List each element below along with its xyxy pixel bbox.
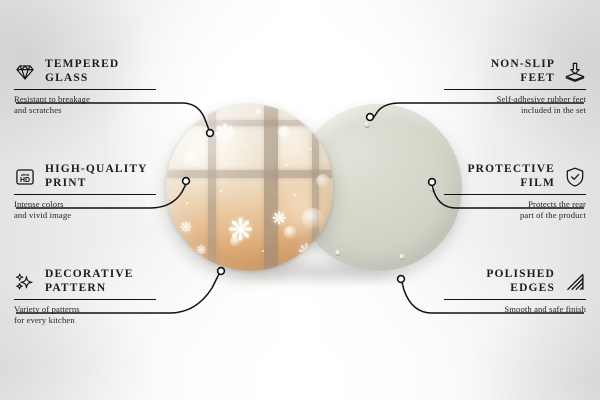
feature-titles: POLISHED EDGES: [486, 268, 555, 295]
feature-header: ultra HD HIGH-QUALITY PRINT: [14, 163, 156, 190]
ultra-hd-badge-icon: ultra HD: [14, 166, 36, 188]
connector-dot: [429, 179, 436, 186]
feature-title-line: DECORATIVE: [45, 268, 134, 282]
feature-protective-film: PROTECTIVE FILM Protects the rear part o…: [444, 163, 586, 221]
connector-dot: [367, 114, 374, 121]
feature-subtitle: Resistant to breakage and scratches: [14, 94, 156, 116]
feature-title-line: TEMPERED: [45, 58, 119, 72]
feature-subtitle-line: and scratches: [14, 105, 156, 116]
feature-subtitle-line: Variety of patterns: [14, 304, 156, 315]
feature-subtitle-line: Resistant to breakage: [14, 94, 156, 105]
shield-check-icon: [564, 166, 586, 188]
feature-title-line: FILM: [520, 177, 555, 191]
feature-subtitle: Intense colors and vivid image: [14, 199, 156, 221]
feature-subtitle-line: part of the product: [444, 210, 586, 221]
feature-subtitle-line: for every kitchen: [14, 315, 156, 326]
feature-subtitle-line: included in the set: [444, 105, 586, 116]
feature-tempered-glass: TEMPERED GLASS Resistant to breakage and…: [14, 58, 156, 116]
feature-title-line: PRINT: [45, 177, 148, 191]
infographic-canvas: ❋ ❋ ❋ ❋ ❋ ❋ ❋ ✦: [0, 0, 600, 400]
feature-titles: DECORATIVE PATTERN: [45, 268, 134, 295]
feature-titles: NON-SLIP FEET: [491, 58, 555, 85]
feature-titles: HIGH-QUALITY PRINT: [45, 163, 148, 190]
sparkles-icon: [14, 271, 36, 293]
diamond-icon: [14, 61, 36, 83]
feature-subtitle: Protects the rear part of the product: [444, 199, 586, 221]
feature-subtitle-line: Intense colors: [14, 199, 156, 210]
feature-title-line: EDGES: [510, 282, 555, 296]
feature-header: PROTECTIVE FILM: [444, 163, 586, 190]
feature-header: TEMPERED GLASS: [14, 58, 156, 85]
feature-decorative-pattern: DECORATIVE PATTERN Variety of patterns f…: [14, 268, 156, 326]
feature-title-line: NON-SLIP: [491, 58, 555, 72]
connector-dot: [398, 276, 405, 283]
feature-title-line: FEET: [520, 72, 555, 86]
feature-header: POLISHED EDGES: [444, 268, 586, 295]
feature-subtitle: Self-adhesive rubber feet included in th…: [444, 94, 586, 116]
feature-subtitle-line: Self-adhesive rubber feet: [444, 94, 586, 105]
diagonal-lines-icon: [564, 271, 586, 293]
feature-title-line: GLASS: [45, 72, 119, 86]
feature-subtitle: Smooth and safe finish: [444, 304, 586, 315]
hd-label: HD: [20, 176, 30, 183]
divider: [444, 299, 586, 300]
feature-polished-edges: POLISHED EDGES Smooth and safe finish: [444, 268, 586, 315]
feature-subtitle-line: Protects the rear: [444, 199, 586, 210]
connector-dot: [218, 268, 225, 275]
divider: [14, 299, 156, 300]
feature-titles: TEMPERED GLASS: [45, 58, 119, 85]
feature-title-line: PROTECTIVE: [467, 163, 555, 177]
connector-dot: [207, 130, 214, 137]
arrow-onto-pad-icon: [564, 61, 586, 83]
feature-subtitle-line: Smooth and safe finish: [444, 304, 586, 315]
feature-header: NON-SLIP FEET: [444, 58, 586, 85]
feature-title-line: HIGH-QUALITY: [45, 163, 148, 177]
feature-header: DECORATIVE PATTERN: [14, 268, 156, 295]
feature-title-line: POLISHED: [486, 268, 555, 282]
divider: [14, 89, 156, 90]
feature-non-slip-feet: NON-SLIP FEET Self-adhesive rubber feet …: [444, 58, 586, 116]
feature-subtitle: Variety of patterns for every kitchen: [14, 304, 156, 326]
divider: [444, 194, 586, 195]
connector-dot: [183, 178, 190, 185]
feature-titles: PROTECTIVE FILM: [467, 163, 555, 190]
divider: [14, 194, 156, 195]
feature-subtitle-line: and vivid image: [14, 210, 156, 221]
feature-high-quality-print: ultra HD HIGH-QUALITY PRINT Intense colo…: [14, 163, 156, 221]
divider: [444, 89, 586, 90]
feature-title-line: PATTERN: [45, 282, 134, 296]
